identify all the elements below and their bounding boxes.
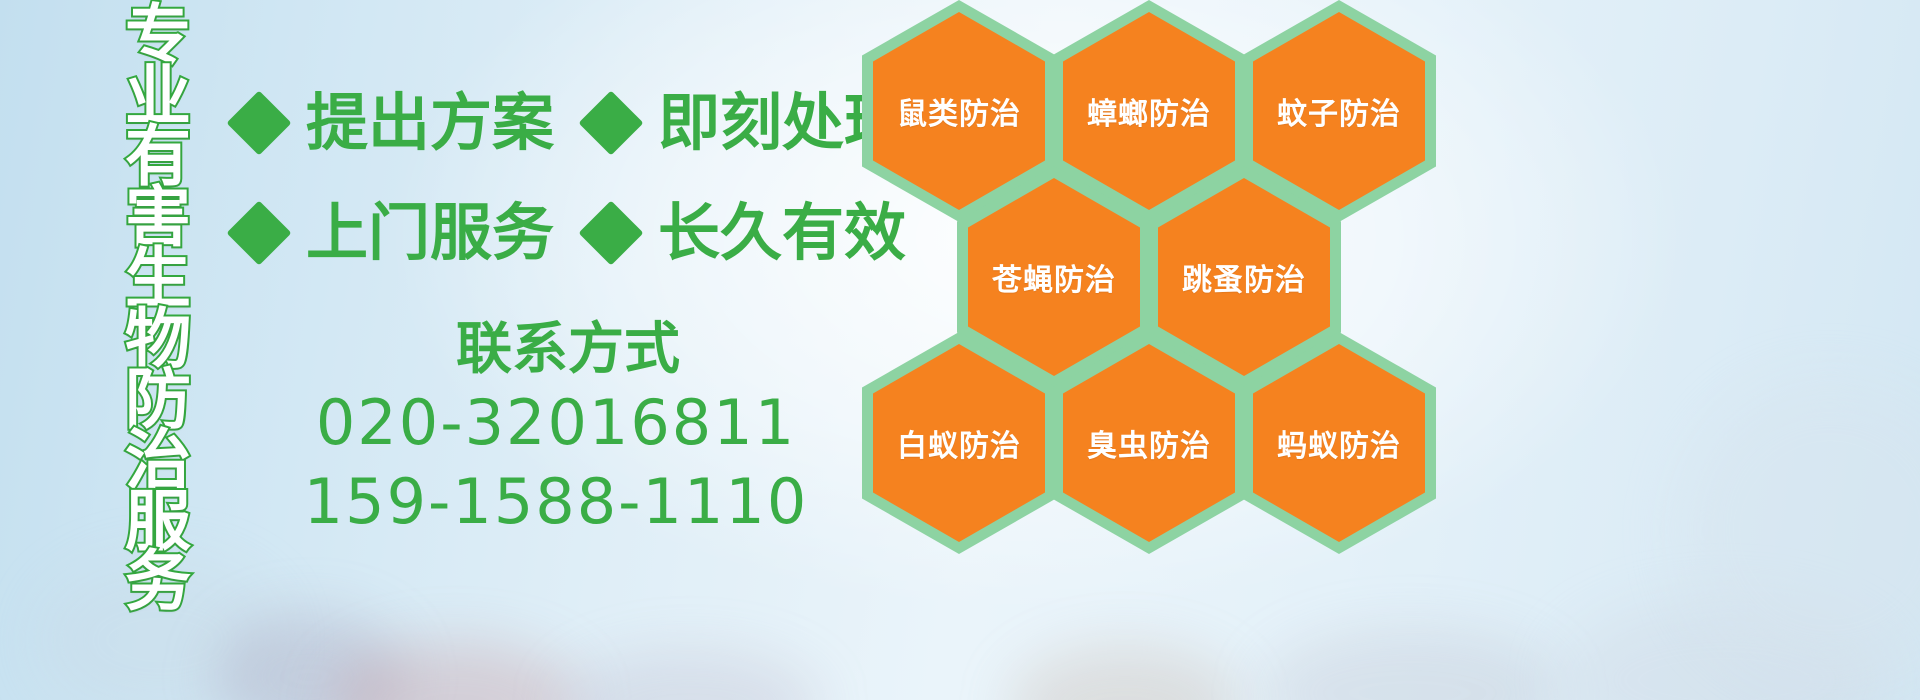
service-hexagon-inner: 蚂蚁防治 [1253,344,1425,542]
service-label: 跳蚤防治 [1182,255,1306,299]
pest-control-banner: 专 业 有 害 生 物 防 治 服 务 提出方案 即刻处理 上门服务 长久有效 … [0,0,1920,700]
contact-block: 联系方式 020-32016811 159-1588-1110 [236,318,876,542]
service-hexagon-inner: 跳蚤防治 [1158,178,1330,376]
vertical-headline: 专 业 有 害 生 物 防 治 服 务 [106,6,210,572]
feature-row: 提出方案 即刻处理 [236,92,906,154]
feature-row: 上门服务 长久有效 [236,202,906,264]
background-blur-blob [1680,380,1920,680]
service-hexagon-inner: 白蚁防治 [873,344,1045,542]
background-blur-blob [330,642,580,700]
service-hexagon-inner: 苍蝇防治 [968,178,1140,376]
service-label: 鼠类防治 [897,89,1021,133]
service-label: 蟑螂防治 [1087,89,1211,133]
phone-number-landline[interactable]: 020-32016811 [236,383,876,462]
service-hexagon-inner: 鼠类防治 [873,12,1045,210]
service-label: 臭虫防治 [1087,421,1211,465]
service-hexagon-inner: 臭虫防治 [1063,344,1235,542]
service-hexagon-inner: 蚊子防治 [1253,12,1425,210]
service-honeycomb: 鼠类防治 蟑螂防治 蚊子防治 苍蝇防治 跳蚤防治 白蚁防治 [856,0,1456,546]
diamond-bullet-icon [578,200,643,265]
feature-label: 提出方案 [306,92,554,154]
diamond-bullet-icon [226,90,291,155]
contact-label: 联系方式 [236,318,876,383]
service-label: 蚂蚁防治 [1277,421,1401,465]
vertical-headline-char: 务 [125,552,191,613]
background-blur-blob [1560,600,1890,700]
diamond-bullet-icon [578,90,643,155]
service-label: 蚊子防治 [1277,89,1401,133]
service-label: 苍蝇防治 [992,255,1116,299]
diamond-bullet-icon [226,200,291,265]
service-label: 白蚁防治 [897,421,1021,465]
background-blur-blob [560,650,820,700]
phone-number-mobile[interactable]: 159-1588-1110 [236,462,876,541]
feature-label: 上门服务 [306,202,554,264]
background-blur-blob [215,612,405,700]
background-blur-blob [1260,628,1560,700]
service-hexagon-inner: 蟑螂防治 [1063,12,1235,210]
background-blur-blob [1010,646,1240,700]
